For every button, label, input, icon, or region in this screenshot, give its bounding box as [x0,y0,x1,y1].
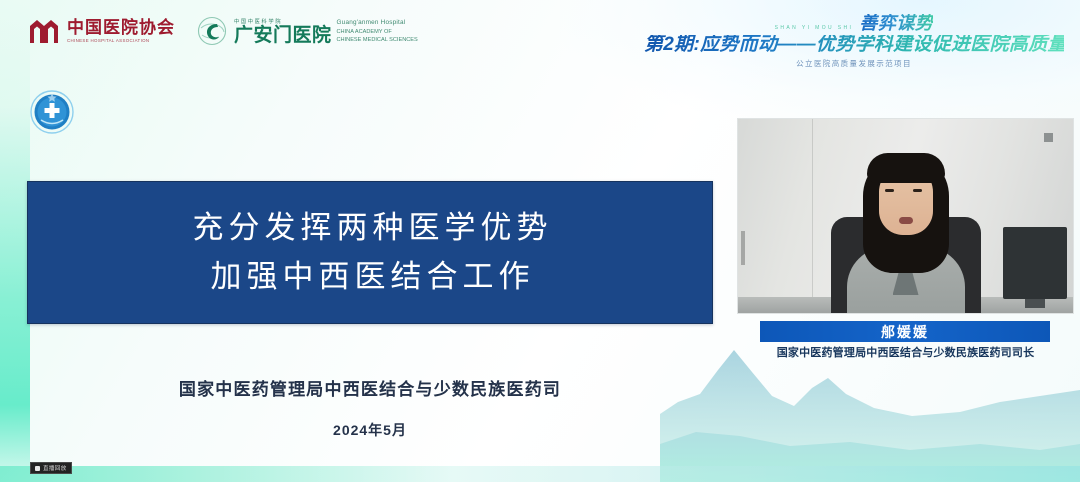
video-speaker-eye-right [913,189,922,192]
slide-title-line-1: 充分发挥两种医学优势 [188,211,553,245]
gam-name-en-block: Guang'anmen Hospital CHINA ACADEMY OF CH… [337,18,418,44]
medical-seal-icon [30,90,74,134]
gam-emblem-icon [197,16,227,46]
slide-title-band: 充分发挥两种医学优势 加强中西医结合工作 [27,181,713,324]
background-left-accent-strip [0,0,30,482]
background-bottom-band [0,466,1080,482]
video-speaker-fringe [867,153,945,183]
slide-organization: 国家中医药管理局中西医结合与少数民族医药司 [27,375,713,400]
event-subtitle: 公立医院高质量发展示范项目 [644,60,1064,68]
video-wall-seam [812,119,813,313]
speaker-title-text: 国家中医药管理局中西医结合与少数民族医药司司长 [737,344,1074,360]
gam-name-en-main: Guang'anmen Hospital [337,18,418,28]
presentation-stage: 中国医院协会 CHINESE HOSPITAL ASSOCIATION 中国中医… [0,0,1080,482]
video-speaker-mouth [899,217,913,224]
video-monitor [1003,227,1067,299]
logo-china-hospital-association: 中国医院协会 CHINESE HOSPITAL ASSOCIATION [28,17,175,45]
watermark-dot-icon [35,466,40,471]
slide-title-line-2: 加强中西医结合工作 [206,260,535,294]
cha-emblem-icon [28,17,60,45]
gam-name-cn-small: 中国中医科学院 [234,18,332,25]
event-banner: SHAN YI MOU SHI 善弈谋势 第2期:应势而动——优势学科建设促进医… [644,14,1064,68]
event-banner-kicker: SHAN YI MOU SHI 善弈谋势 [644,14,1064,32]
slide-date: 2024年5月 [27,420,713,440]
cha-name-cn: 中国医院协会 [67,19,175,37]
header-logo-row: 中国医院协会 CHINESE HOSPITAL ASSOCIATION 中国中医… [28,16,418,46]
event-slogan-pinyin: SHAN YI MOU SHI [775,25,854,32]
event-slogan: 善弈谋势 [859,14,933,32]
gam-name-cn-big: 广安门医院 [234,26,332,45]
speaker-name-bar: 郍媛媛 [760,321,1050,342]
event-main-title: 第2期:应势而动——优势学科建设促进医院高质量发展 [644,35,1064,54]
watermark-text: 直播回放 [43,464,67,472]
video-speaker-eye-left [885,189,894,192]
cha-name-en: CHINESE HOSPITAL ASSOCIATION [67,38,175,43]
gam-name-en-sub1: CHINA ACADEMY OF [337,28,418,36]
video-corner-marker [1044,133,1053,142]
stream-watermark-badge: 直播回放 [30,462,72,474]
speaker-webcam-feed[interactable] [737,118,1074,314]
video-left-object [741,231,745,265]
gam-name-en-sub2: CHINESE MEDICAL SCIENCES [337,36,418,44]
logo-guanganmen-hospital: 中国中医科学院 广安门医院 Guang'anmen Hospital CHINA… [197,16,418,46]
